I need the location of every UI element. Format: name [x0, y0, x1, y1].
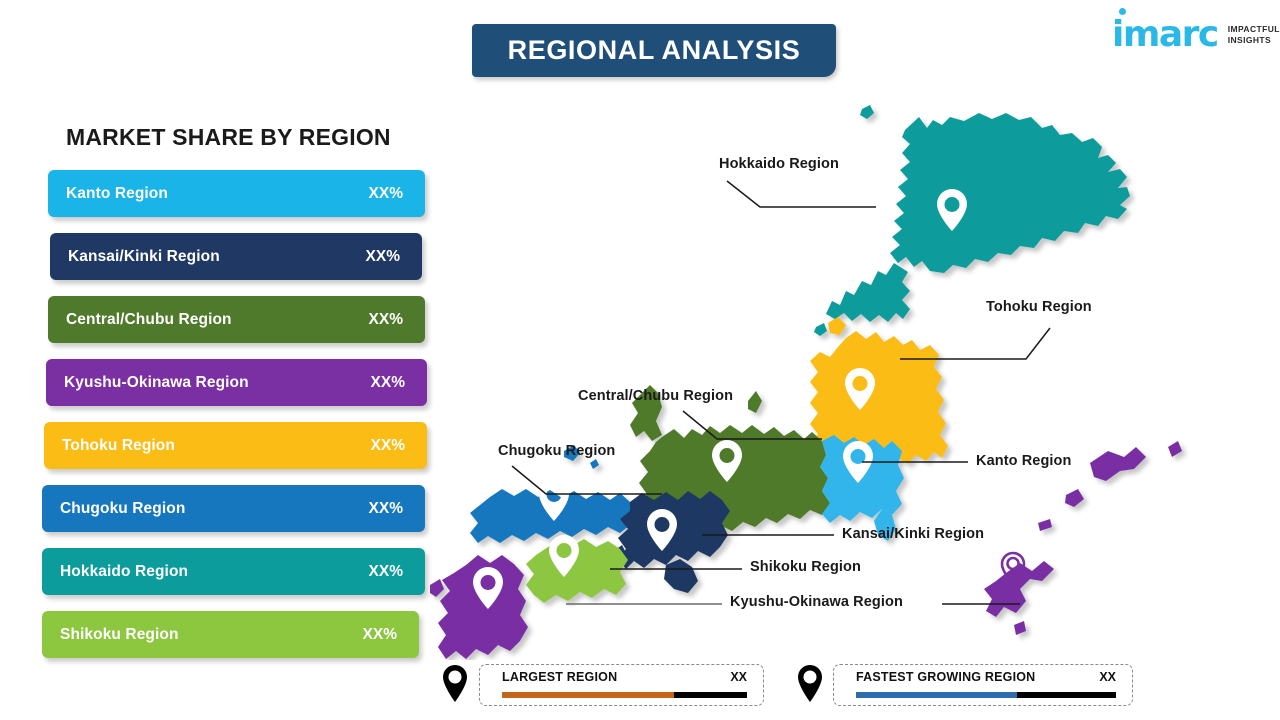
region-share-bar[interactable]: Shikoku RegionXX% [42, 611, 419, 658]
region-share-value: XX% [369, 500, 403, 518]
map-region-tohoku-notch [828, 317, 846, 335]
page-title: REGIONAL ANALYSIS [508, 35, 801, 66]
region-share-bar[interactable]: Kyushu-Okinawa RegionXX% [46, 359, 427, 406]
logo-wordmark-text: imarc [1112, 14, 1218, 55]
map-region-okinawa-amami [1090, 447, 1146, 481]
imarc-logo: imarc IMPACTFUL INSIGHTS [1112, 12, 1272, 58]
map-label-shikoku: Shikoku Region [750, 559, 861, 575]
leader-chugoku [512, 466, 662, 494]
region-share-value: XX% [371, 437, 405, 455]
map-label-hokkaido: Hokkaido Region [719, 156, 839, 172]
map-region-hokkaido-cape [826, 263, 910, 322]
logo-wordmark: imarc [1112, 17, 1218, 53]
page-title-banner: REGIONAL ANALYSIS [472, 24, 836, 77]
region-share-label: Shikoku Region [60, 626, 363, 644]
map-region-chugoku-islet2 [590, 459, 599, 469]
map-region-okinawa-main[interactable] [984, 561, 1054, 617]
logo-dot-icon [1119, 8, 1126, 15]
region-share-bar[interactable]: Kanto RegionXX% [48, 170, 425, 217]
logo-tagline: IMPACTFUL INSIGHTS [1228, 24, 1280, 45]
fastest-growing-region-value: XX [1099, 670, 1116, 684]
region-share-label: Kansai/Kinki Region [68, 248, 366, 266]
region-share-list: Kanto RegionXX%Kansai/Kinki RegionXX%Cen… [0, 170, 440, 674]
region-share-value: XX% [366, 248, 400, 266]
fastest-growing-region-progress-track [856, 692, 1116, 698]
region-share-label: Chugoku Region [60, 500, 369, 518]
region-share-label: Central/Chubu Region [66, 311, 369, 329]
largest-region-value: XX [730, 670, 747, 684]
region-share-value: XX% [369, 311, 403, 329]
japan-map-svg [430, 95, 1280, 660]
fastest-growing-region-pin-icon [795, 664, 825, 704]
largest-region-progress-track [502, 692, 747, 698]
map-region-chubu-tip [748, 391, 762, 413]
map-region-hokkaido[interactable] [890, 113, 1130, 273]
fastest-growing-region-badge[interactable]: FASTEST GROWING REGION XX [833, 664, 1133, 706]
region-share-bar[interactable]: Central/Chubu RegionXX% [48, 296, 425, 343]
map-region-hokkaido-islet2 [814, 323, 827, 336]
map-region-hokkaido-islet [860, 105, 874, 119]
map-region-okinawa-islet2 [1065, 489, 1084, 507]
market-share-heading: MARKET SHARE BY REGION [66, 124, 391, 151]
map-label-kyushu-okinawa: Kyushu-Okinawa Region [730, 594, 903, 610]
region-share-label: Hokkaido Region [60, 563, 369, 581]
region-share-value: XX% [371, 374, 405, 392]
logo-tagline-line2: INSIGHTS [1228, 35, 1280, 46]
region-share-bar[interactable]: Tohoku RegionXX% [44, 422, 427, 469]
largest-region-title: LARGEST REGION [502, 670, 617, 684]
leader-hokkaido [727, 181, 876, 207]
map-label-chugoku: Chugoku Region [498, 443, 615, 459]
map-region-kyushu-islet1 [430, 579, 444, 597]
region-share-bar[interactable]: Hokkaido RegionXX% [42, 548, 425, 595]
map-region-okinawa-islet3 [1038, 519, 1052, 531]
logo-tagline-line1: IMPACTFUL [1228, 24, 1280, 35]
regional-analysis-slide: REGIONAL ANALYSIS imarc IMPACTFUL INSIGH… [0, 0, 1280, 720]
region-share-value: XX% [363, 626, 397, 644]
region-share-bar[interactable]: Chugoku RegionXX% [42, 485, 425, 532]
region-share-value: XX% [369, 563, 403, 581]
map-label-kansai: Kansai/Kinki Region [842, 526, 984, 542]
map-label-tohoku: Tohoku Region [986, 299, 1092, 315]
region-share-label: Tohoku Region [62, 437, 371, 455]
map-region-kansai-kii [664, 559, 698, 593]
region-share-bar[interactable]: Kansai/Kinki RegionXX% [50, 233, 422, 280]
map-label-chubu: Central/Chubu Region [578, 388, 733, 404]
region-share-label: Kyushu-Okinawa Region [64, 374, 371, 392]
fastest-growing-region-title: FASTEST GROWING REGION [856, 670, 1035, 684]
region-share-label: Kanto Region [66, 185, 369, 203]
largest-region-badge[interactable]: LARGEST REGION XX [479, 664, 764, 706]
region-share-value: XX% [369, 185, 403, 203]
map-label-kanto: Kanto Region [976, 453, 1071, 469]
fastest-growing-region-progress-fill [856, 692, 1017, 698]
map-region-okinawa-islet4 [1014, 621, 1026, 635]
largest-region-pin-icon [440, 664, 470, 704]
map-region-okinawa-islet1 [1168, 441, 1182, 457]
japan-map: Hokkaido Region Tohoku Region Central/Ch… [430, 95, 1280, 660]
largest-region-progress-fill [502, 692, 674, 698]
